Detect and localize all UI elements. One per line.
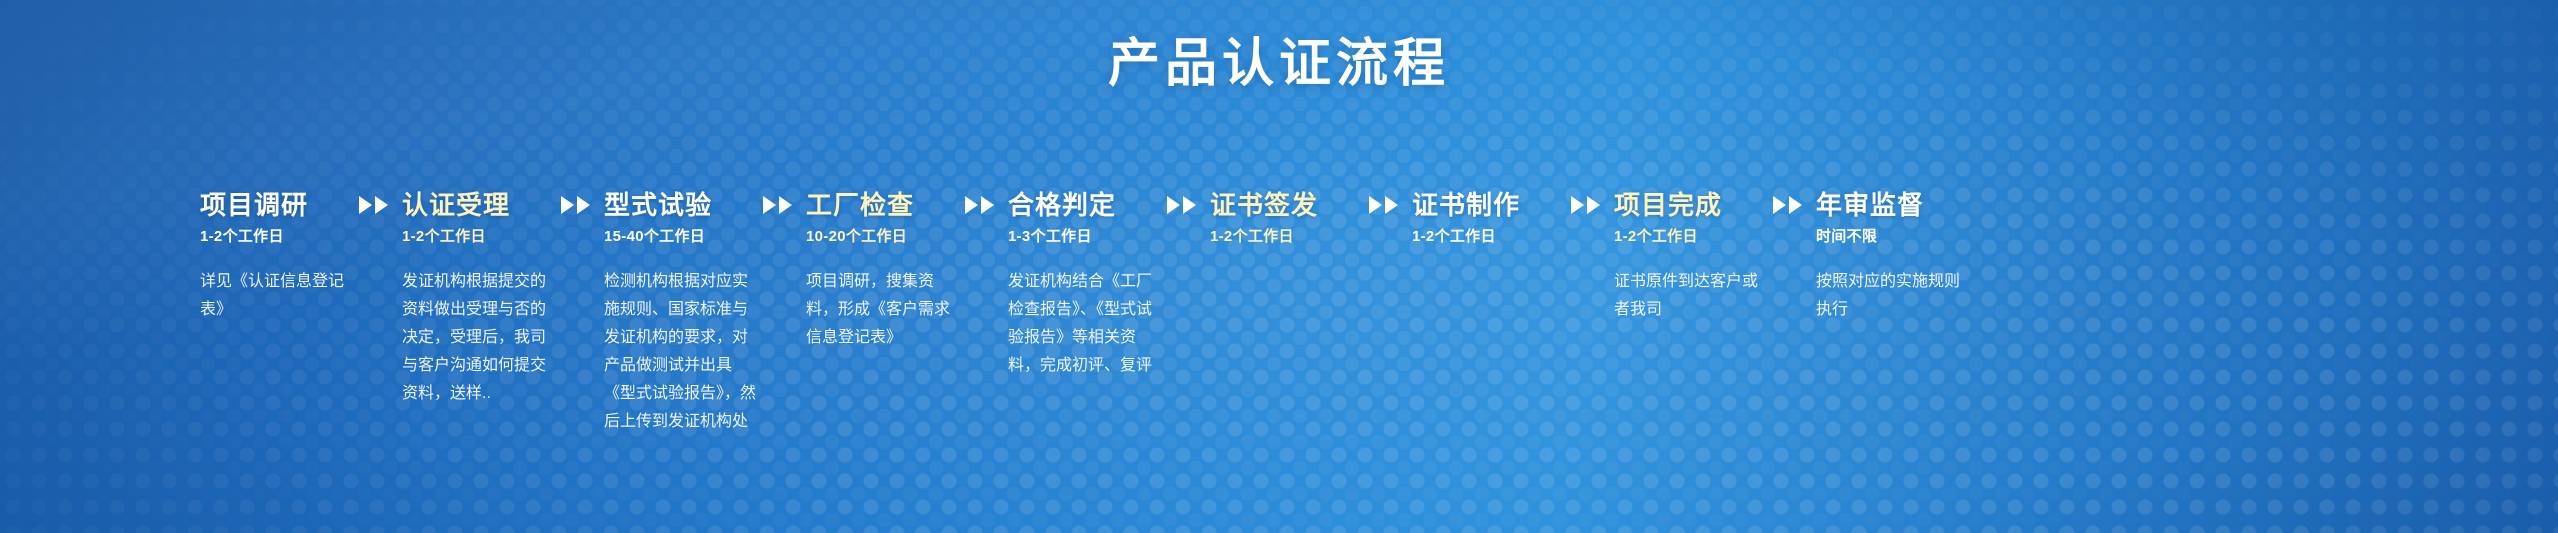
double-chevron-right-icon bbox=[954, 192, 1008, 216]
process-step-duration: 1-2个工作日 bbox=[200, 229, 348, 246]
process-step: 证书制作1-2个工作日 bbox=[1412, 192, 1560, 246]
process-step-title: 认证受理 bbox=[402, 192, 510, 218]
double-chevron-right-icon bbox=[752, 192, 806, 216]
process-step-header: 认证受理 bbox=[402, 192, 550, 218]
process-step: 工厂检查10-20个工作日项目调研，搜集资料，形成《客户需求信息登记表》 bbox=[806, 192, 954, 352]
process-step-description: 发证机构根据提交的资料做出受理与否的决定，受理后，我司与客户沟通如何提交资料，送… bbox=[402, 268, 554, 408]
process-step-duration: 时间不限 bbox=[1816, 229, 1964, 246]
process-step-title: 证书制作 bbox=[1412, 192, 1520, 218]
process-step-description: 检测机构根据对应实施规则、国家标准与发证机构的要求，对产品做测试并出具《型式试验… bbox=[604, 268, 756, 436]
page-title: 产品认证流程 bbox=[0, 36, 2558, 93]
process-step-description: 按照对应的实施规则执行 bbox=[1816, 268, 1968, 324]
double-chevron-right-icon bbox=[348, 192, 402, 216]
process-step-duration: 10-20个工作日 bbox=[806, 229, 954, 246]
process-step-title: 合格判定 bbox=[1008, 192, 1116, 218]
process-step-list: 项目调研1-2个工作日详见《认证信息登记表》认证受理1-2个工作日发证机构根据提… bbox=[200, 192, 2462, 436]
process-step: 项目完成1-2个工作日证书原件到达客户或者我司 bbox=[1614, 192, 1762, 324]
process-step-description: 项目调研，搜集资料，形成《客户需求信息登记表》 bbox=[806, 268, 958, 352]
process-step: 年审监督时间不限按照对应的实施规则执行 bbox=[1816, 192, 1964, 324]
process-step-header: 工厂检查 bbox=[806, 192, 954, 218]
process-step-duration: 1-3个工作日 bbox=[1008, 229, 1156, 246]
double-chevron-right-icon bbox=[550, 192, 604, 216]
process-step-title: 项目完成 bbox=[1614, 192, 1722, 218]
process-step: 型式试验15-40个工作日检测机构根据对应实施规则、国家标准与发证机构的要求，对… bbox=[604, 192, 752, 436]
process-step: 证书签发1-2个工作日 bbox=[1210, 192, 1358, 246]
process-step-duration: 1-2个工作日 bbox=[1412, 229, 1560, 246]
process-step-header: 年审监督 bbox=[1816, 192, 1964, 218]
process-step-header: 证书签发 bbox=[1210, 192, 1358, 218]
process-step-description: 证书原件到达客户或者我司 bbox=[1614, 268, 1766, 324]
process-step-header: 合格判定 bbox=[1008, 192, 1156, 218]
process-step: 合格判定1-3个工作日发证机构结合《工厂检查报告》、《型式试验报告》等相关资料，… bbox=[1008, 192, 1156, 380]
process-step-title: 项目调研 bbox=[200, 192, 308, 218]
process-step-header: 项目完成 bbox=[1614, 192, 1762, 218]
process-step-duration: 1-2个工作日 bbox=[1210, 229, 1358, 246]
process-step-title: 工厂检查 bbox=[806, 192, 914, 218]
process-step-header: 型式试验 bbox=[604, 192, 752, 218]
process-step-duration: 1-2个工作日 bbox=[402, 229, 550, 246]
process-step: 项目调研1-2个工作日详见《认证信息登记表》 bbox=[200, 192, 348, 324]
process-step-header: 证书制作 bbox=[1412, 192, 1560, 218]
double-chevron-right-icon bbox=[1156, 192, 1210, 216]
product-certification-process-banner: 产品认证流程 项目调研1-2个工作日详见《认证信息登记表》认证受理1-2个工作日… bbox=[0, 0, 2558, 533]
double-chevron-right-icon bbox=[1358, 192, 1412, 216]
double-chevron-right-icon bbox=[1762, 192, 1816, 216]
process-step-title: 型式试验 bbox=[604, 192, 712, 218]
process-step-duration: 1-2个工作日 bbox=[1614, 229, 1762, 246]
process-step-header: 项目调研 bbox=[200, 192, 348, 218]
process-step: 认证受理1-2个工作日发证机构根据提交的资料做出受理与否的决定，受理后，我司与客… bbox=[402, 192, 550, 408]
process-step-description: 详见《认证信息登记表》 bbox=[200, 268, 352, 324]
double-chevron-right-icon bbox=[1560, 192, 1614, 216]
process-step-title: 年审监督 bbox=[1816, 192, 1924, 218]
process-step-duration: 15-40个工作日 bbox=[604, 229, 752, 246]
process-step-title: 证书签发 bbox=[1210, 192, 1318, 218]
process-step-description: 发证机构结合《工厂检查报告》、《型式试验报告》等相关资料，完成初评、复评 bbox=[1008, 268, 1160, 380]
